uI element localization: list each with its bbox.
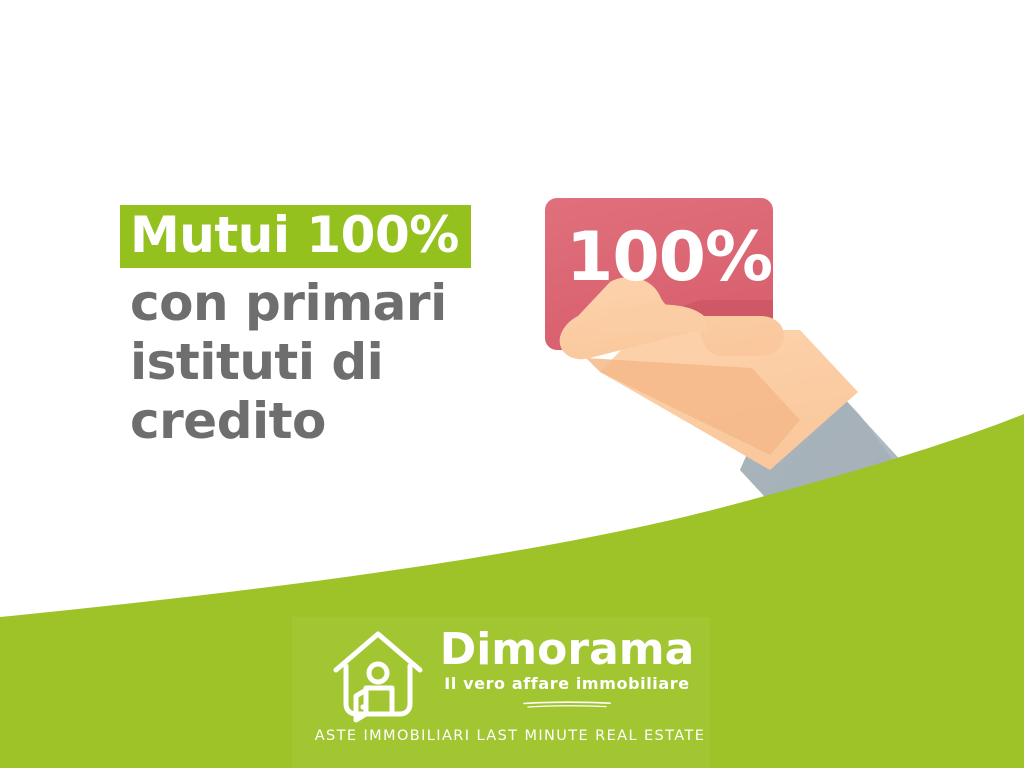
badge-percentage-label: 100%	[566, 218, 772, 297]
logo-wordmark-group: Dimorama Il vero affare immobiliare	[434, 624, 700, 713]
dimorama-logo: Dimorama Il vero affare immobiliare ASTE…	[330, 624, 700, 748]
logo-underline-flourish	[522, 701, 612, 709]
headline-line-3: credito	[124, 392, 544, 450]
logo-services-line: ASTE IMMOBILIARI LAST MINUTE REAL ESTATE	[310, 728, 710, 744]
headline-highlight: Mutui 100%	[120, 205, 471, 268]
logo-tagline: Il vero affare immobiliare	[434, 674, 700, 694]
headline-block: Mutui 100% con primari istituti di credi…	[124, 205, 544, 451]
house-with-open-door-icon	[330, 628, 426, 724]
headline-rest: con primari istituti di credito	[124, 274, 544, 450]
headline-line-1: con primari	[124, 274, 544, 332]
logo-brand-name: Dimorama	[434, 624, 700, 676]
headline-line-2: istituti di	[124, 333, 544, 391]
promo-banner-canvas: Mutui 100% con primari istituti di credi…	[0, 0, 1024, 768]
